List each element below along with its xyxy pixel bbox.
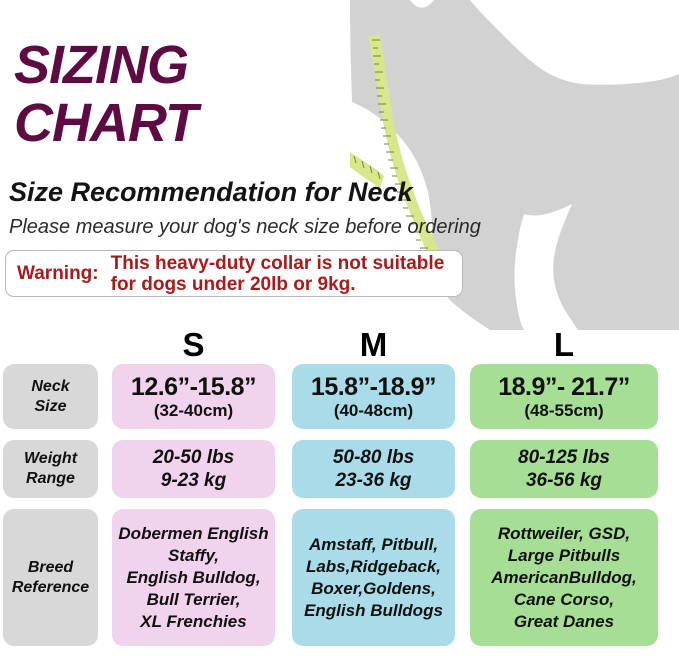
cell-neck-size-l: 18.9”- 21.7” (48-55cm) [470, 364, 658, 429]
cell-weight-range-l: 80-125 lbs 36-56 kg [470, 440, 658, 498]
row-label-line-1: Weight [24, 449, 77, 469]
column-header-s: S [112, 328, 275, 362]
row-label-breed-reference: Breed Reference [3, 509, 98, 646]
neck-size-s-inches: 12.6”-15.8” [131, 373, 256, 401]
breed-s-line-2: Staffy, [168, 545, 219, 567]
row-label-line-1: Breed [28, 558, 73, 578]
row-label-line-2: Reference [12, 578, 89, 598]
row-label-neck-size: Neck Size [3, 364, 98, 429]
breed-m-line-2: Labs,Ridgeback, [306, 556, 441, 578]
warning-box: Warning: This heavy-duty collar is not s… [5, 250, 463, 297]
instruction-text: Please measure your dog's neck size befo… [9, 215, 481, 239]
neck-size-m-inches: 15.8”-18.9” [311, 373, 436, 401]
breed-s-line-5: XL Frenchies [140, 611, 246, 633]
row-label-line-2: Range [26, 469, 75, 489]
weight-s-kg: 9-23 kg [161, 469, 226, 492]
breed-s-line-4: Bull Terrier, [147, 589, 241, 611]
column-header-m: M [292, 328, 455, 362]
breed-m-line-4: English Bulldogs [304, 600, 443, 622]
subtitle: Size Recommendation for Neck [9, 177, 413, 207]
title-line-2: CHART [14, 94, 434, 152]
table-row-neck-size: Neck Size 12.6”-15.8” (32-40cm) 15.8”-18… [0, 364, 679, 429]
weight-l-kg: 36-56 kg [526, 469, 602, 492]
table-row-weight-range: Weight Range 20-50 lbs 9-23 kg 50-80 lbs… [0, 440, 679, 498]
breed-l-line-4: Cane Corso, [514, 589, 614, 611]
size-table: S M L Neck Size 12.6”-15.8” (32-40cm) 15… [0, 328, 679, 657]
breed-s-line-1: Dobermen English [118, 523, 268, 545]
cell-breed-reference-m: Amstaff, Pitbull, Labs,Ridgeback, Boxer,… [292, 509, 455, 646]
cell-breed-reference-s: Dobermen English Staffy, English Bulldog… [112, 509, 275, 646]
weight-m-kg: 23-36 kg [335, 469, 411, 492]
cell-weight-range-s: 20-50 lbs 9-23 kg [112, 440, 275, 498]
warning-line-1: This heavy-duty collar is not suitable [111, 253, 445, 274]
row-label-line-2: Size [34, 397, 66, 417]
warning-line-2: for dogs under 20lb or 9kg. [111, 274, 445, 295]
warning-label: Warning: [17, 263, 99, 285]
weight-l-lbs: 80-125 lbs [518, 446, 610, 469]
breed-l-line-1: Rottweiler, GSD, [498, 523, 630, 545]
weight-m-lbs: 50-80 lbs [333, 446, 414, 469]
cell-breed-reference-l: Rottweiler, GSD, Large Pitbulls American… [470, 509, 658, 646]
table-header-row: S M L [0, 328, 679, 364]
breed-s-line-3: English Bulldog, [126, 567, 260, 589]
neck-size-m-cm: (40-48cm) [334, 401, 413, 421]
breed-m-line-3: Boxer,Goldens, [311, 578, 436, 600]
neck-size-s-cm: (32-40cm) [154, 401, 233, 421]
table-row-breed-reference: Breed Reference Dobermen English Staffy,… [0, 509, 679, 646]
sizing-chart-page: SIZING CHART Size Recommendation for Nec… [0, 0, 679, 672]
breed-l-line-5: Great Danes [514, 611, 614, 633]
breed-m-line-1: Amstaff, Pitbull, [309, 534, 438, 556]
cell-neck-size-m: 15.8”-18.9” (40-48cm) [292, 364, 455, 429]
cell-weight-range-m: 50-80 lbs 23-36 kg [292, 440, 455, 498]
warning-message: This heavy-duty collar is not suitable f… [111, 253, 445, 295]
title-line-1: SIZING [14, 36, 434, 94]
breed-l-line-2: Large Pitbulls [508, 545, 620, 567]
page-title: SIZING CHART [14, 36, 434, 152]
weight-s-lbs: 20-50 lbs [153, 446, 234, 469]
row-label-line-1: Neck [31, 377, 69, 397]
column-header-l: L [470, 328, 658, 362]
neck-size-l-inches: 18.9”- 21.7” [498, 373, 630, 401]
breed-l-line-3: AmericanBulldog, [491, 567, 636, 589]
row-label-weight-range: Weight Range [3, 440, 98, 498]
cell-neck-size-s: 12.6”-15.8” (32-40cm) [112, 364, 275, 429]
neck-size-l-cm: (48-55cm) [524, 401, 603, 421]
